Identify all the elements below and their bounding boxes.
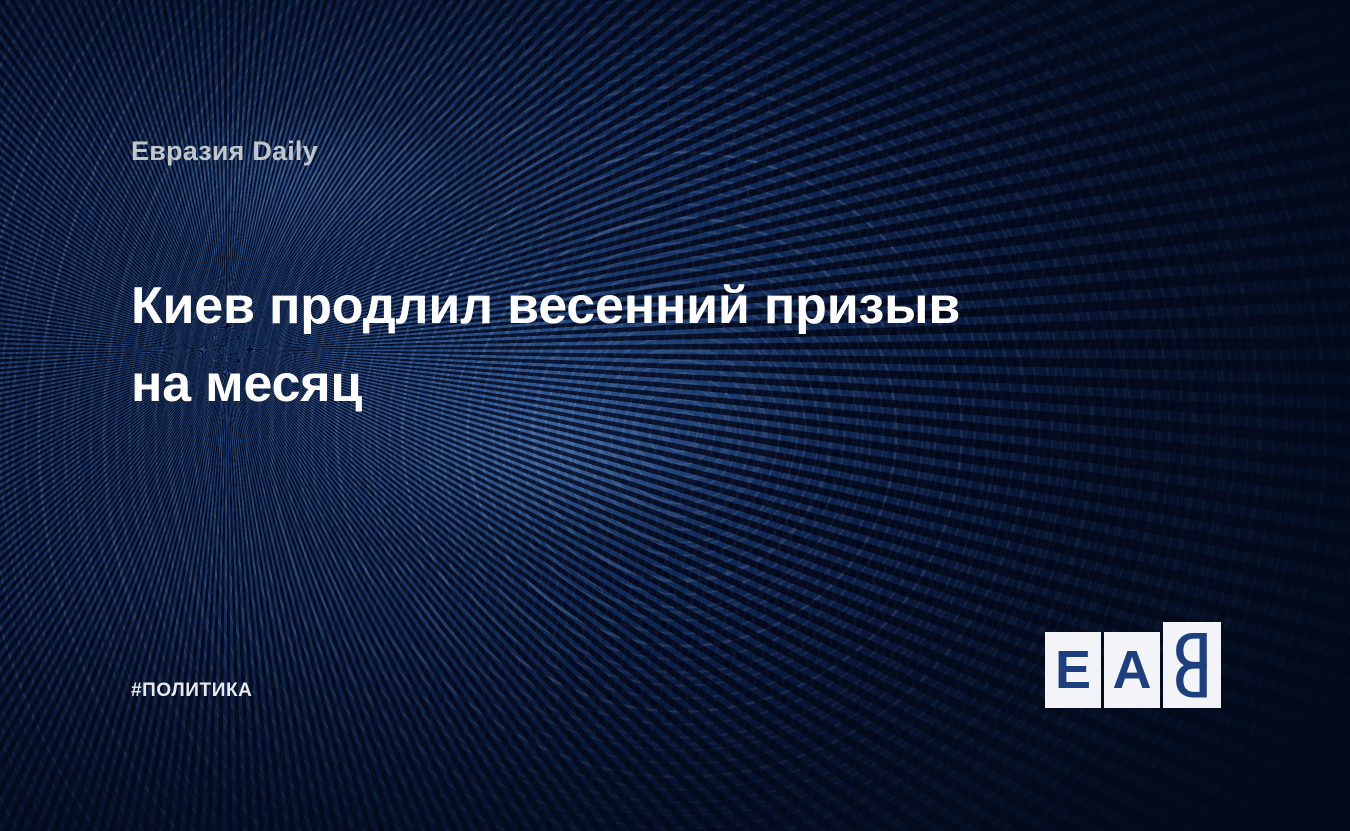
site-name: Евразия Daily — [131, 136, 318, 167]
logo-letter-e: E — [1045, 632, 1101, 708]
news-share-card: Евразия Daily Киев продлил весенний приз… — [0, 0, 1350, 831]
logo-letter-a: A — [1104, 632, 1160, 708]
eadaily-logo[interactable]: E A D D — [1045, 622, 1221, 708]
card-content: Евразия Daily Киев продлил весенний приз… — [0, 0, 1350, 831]
logo-letter-d-bottom: D — [1163, 652, 1221, 708]
page-title: Киев продлил весенний призыв на месяц — [131, 267, 1011, 423]
category-tag-politika[interactable]: #ПОЛИТИКА — [131, 680, 253, 702]
